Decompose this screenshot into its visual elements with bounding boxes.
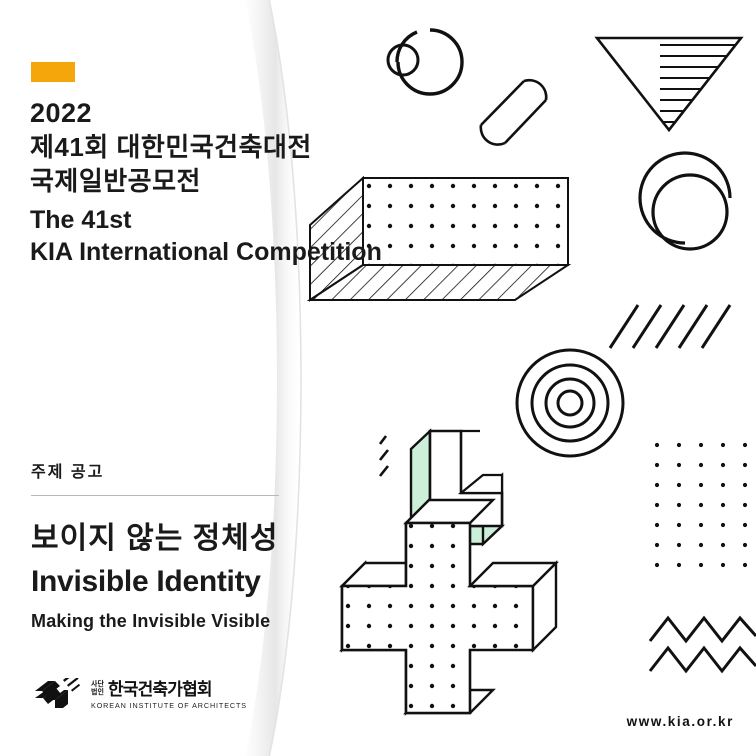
poster-canvas: 2022 제41회 대한민국건축대전 국제일반공모전 The 41st KIA … (0, 0, 756, 756)
logo-name-row: 사단 법인 한국건축가협회 (91, 681, 247, 698)
cross-3d-dotted-icon (340, 500, 556, 720)
dash-fragment-icon (380, 436, 388, 476)
dot-grid-icon (652, 430, 756, 582)
title-block: 2022 제41회 대한민국건축대전 국제일반공모전 The 41st KIA … (30, 98, 330, 268)
organization-logo[interactable]: 사단 법인 한국건축가협회 KOREAN INSTITUTE OF ARCHIT… (34, 678, 247, 712)
content-panel: 2022 제41회 대한민국건축대전 국제일반공모전 The 41st KIA … (0, 0, 330, 756)
theme-korean: 보이지 않는 정체성 (31, 513, 291, 557)
accent-bar (31, 62, 75, 82)
logo-name-english: KOREAN INSTITUTE OF ARCHITECTS (91, 701, 247, 710)
kia-logo-mark-icon (34, 678, 82, 712)
decorative-pattern-panel (300, 0, 756, 756)
english-title-line-2: KIA International Competition (30, 236, 330, 268)
year-label: 2022 (30, 98, 330, 130)
theme-english: Invisible Identity (31, 565, 291, 599)
theme-label: 주제 공고 (31, 458, 291, 482)
logo-prefix: 사단 법인 (91, 681, 104, 698)
zigzag-lines-icon (650, 618, 756, 671)
ring-offset-large-icon (640, 153, 730, 249)
theme-block: 주제 공고 보이지 않는 정체성 Invisible Identity Maki… (31, 458, 291, 632)
english-title-line-1: The 41st (30, 204, 330, 236)
website-url[interactable]: www.kia.or.kr (627, 714, 734, 729)
capsule-diagonal-icon (481, 80, 546, 144)
korean-title-line-1: 제41회 대한민국건축대전 (30, 130, 330, 164)
theme-divider (31, 495, 279, 496)
pattern-svg (300, 0, 756, 756)
slash-lines-icon (610, 305, 730, 348)
triangle-hatched-icon (597, 38, 755, 133)
logo-text-wrap: 사단 법인 한국건축가협회 KOREAN INSTITUTE OF ARCHIT… (91, 681, 247, 710)
korean-title-line-2: 국제일반공모전 (30, 164, 330, 198)
logo-prefix-line-1: 사단 (91, 681, 104, 689)
logo-name-korean: 한국건축가협회 (108, 681, 212, 698)
concentric-ring-small-icon (388, 30, 462, 94)
theme-subtitle: Making the Invisible Visible (31, 611, 291, 632)
target-circles-icon (517, 350, 623, 456)
logo-prefix-line-2: 법인 (91, 689, 104, 697)
